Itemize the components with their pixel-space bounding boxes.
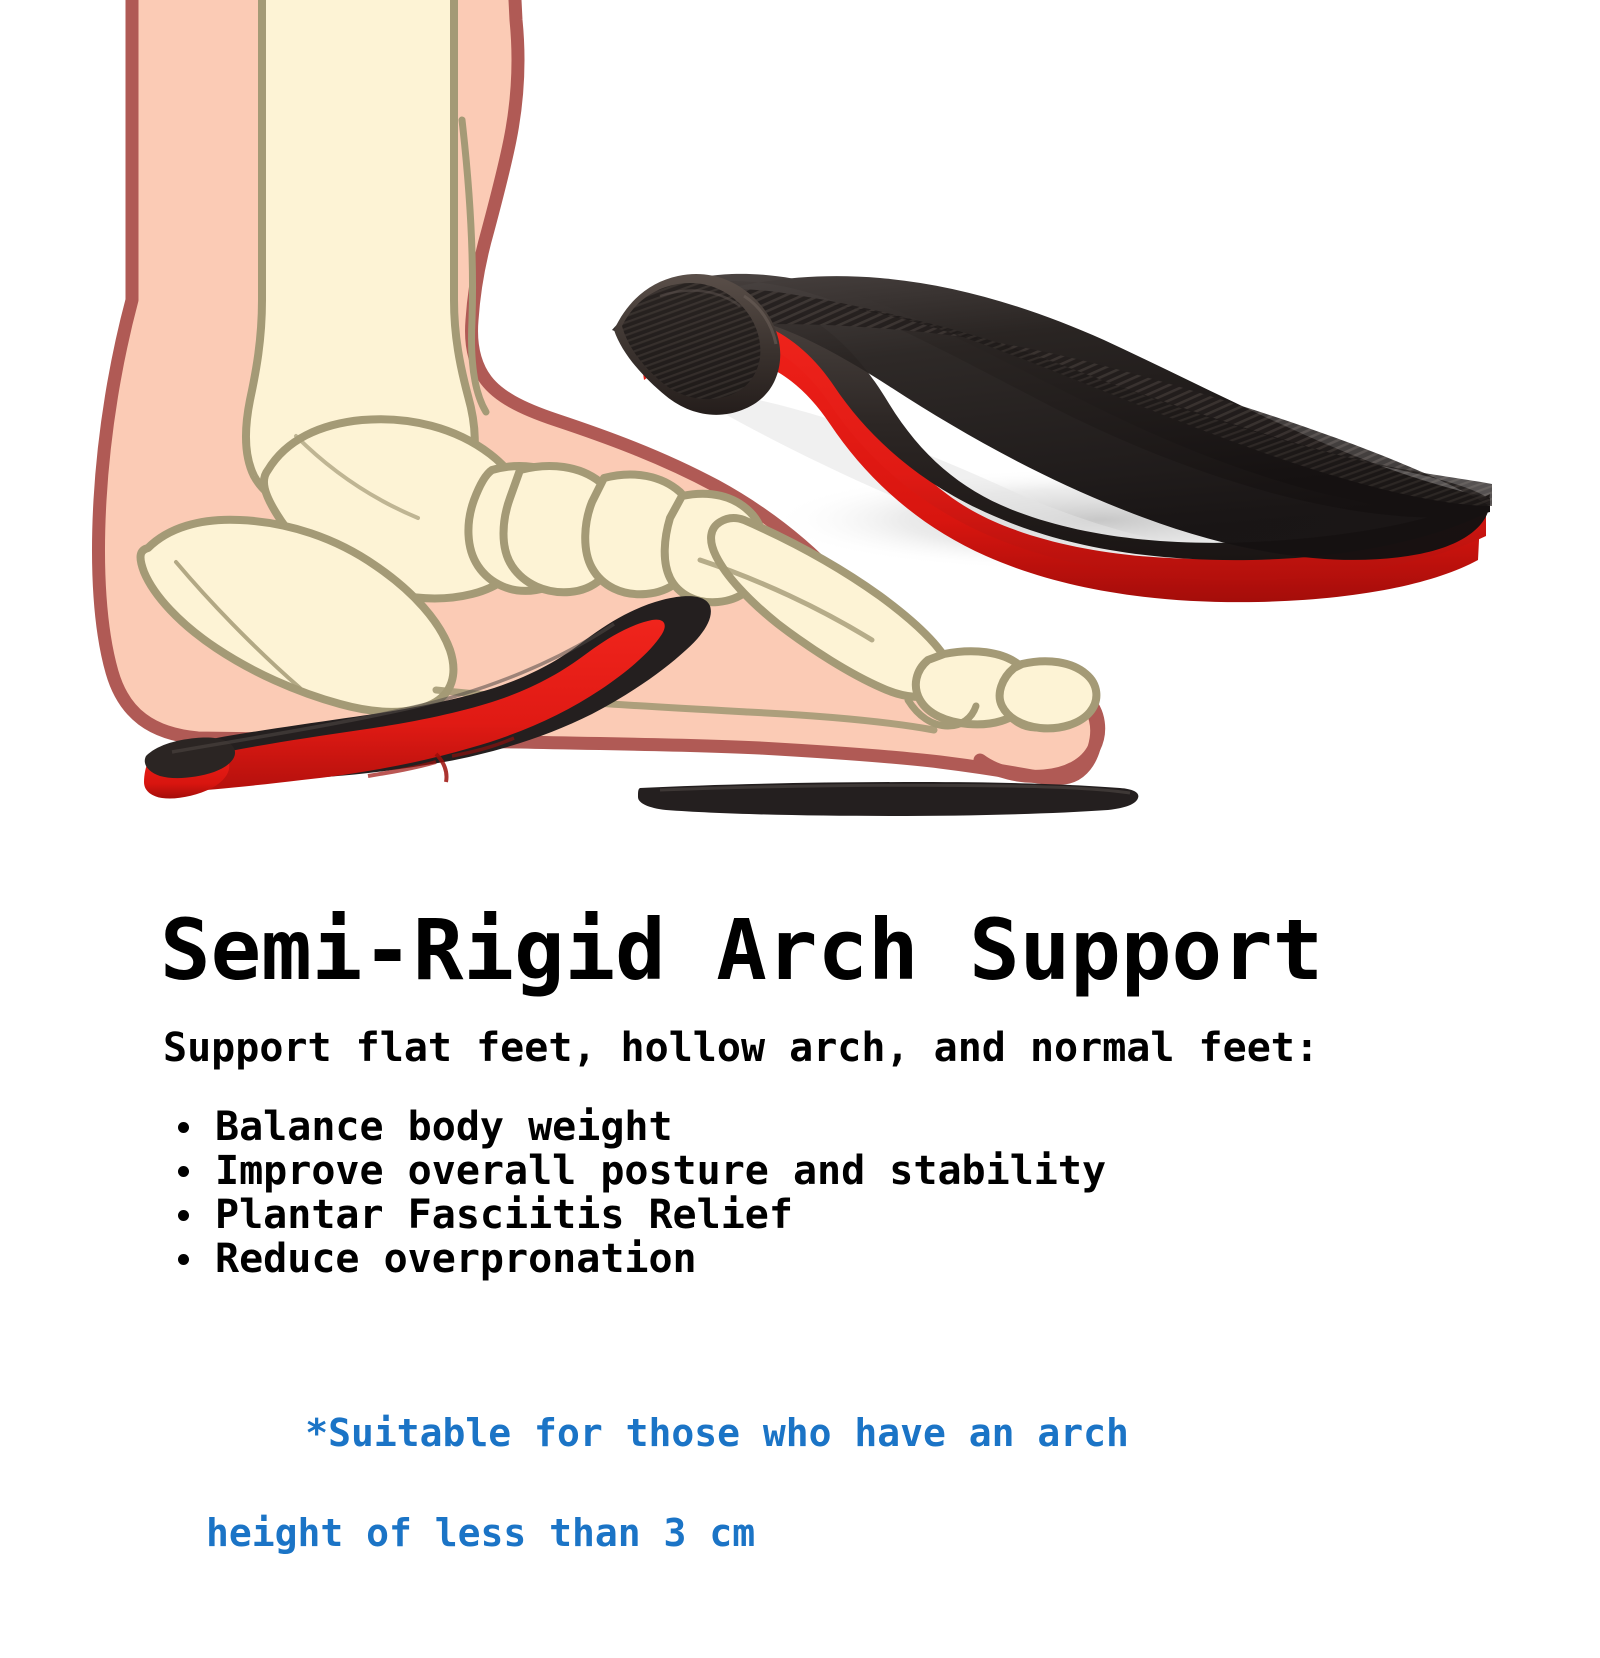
list-item: Improve overall posture and stability bbox=[178, 1149, 1106, 1193]
list-item: Plantar Fasciitis Relief bbox=[178, 1193, 1106, 1237]
list-item: Balance body weight bbox=[178, 1105, 1106, 1149]
footnote-line-1: *Suitable for those who have an arch bbox=[305, 1411, 1129, 1455]
illustration-area bbox=[0, 0, 1600, 880]
footnote-line-2: height of less than 3 cm bbox=[168, 1508, 1129, 1558]
product-infographic: Semi-Rigid Arch Support Support flat fee… bbox=[0, 0, 1600, 1600]
benefit-label: Reduce overpronation bbox=[215, 1236, 697, 1282]
benefit-label: Plantar Fasciitis Relief bbox=[215, 1192, 793, 1238]
bullet-icon bbox=[178, 1166, 189, 1177]
footnote: *Suitable for those who have an arch hei… bbox=[168, 1358, 1129, 1658]
bullet-icon bbox=[178, 1254, 189, 1265]
page-title: Semi-Rigid Arch Support bbox=[160, 908, 1323, 992]
subtitle: Support flat feet, hollow arch, and norm… bbox=[163, 1028, 1319, 1068]
benefits-list: Balance body weight Improve overall post… bbox=[178, 1105, 1106, 1281]
benefit-label: Balance body weight bbox=[215, 1104, 673, 1150]
bullet-icon bbox=[178, 1210, 189, 1221]
benefit-label: Improve overall posture and stability bbox=[215, 1148, 1106, 1194]
copy-block: Semi-Rigid Arch Support Support flat fee… bbox=[0, 880, 1600, 1600]
illustration-svg bbox=[0, 0, 1600, 880]
list-item: Reduce overpronation bbox=[178, 1237, 1106, 1281]
bullet-icon bbox=[178, 1122, 189, 1133]
